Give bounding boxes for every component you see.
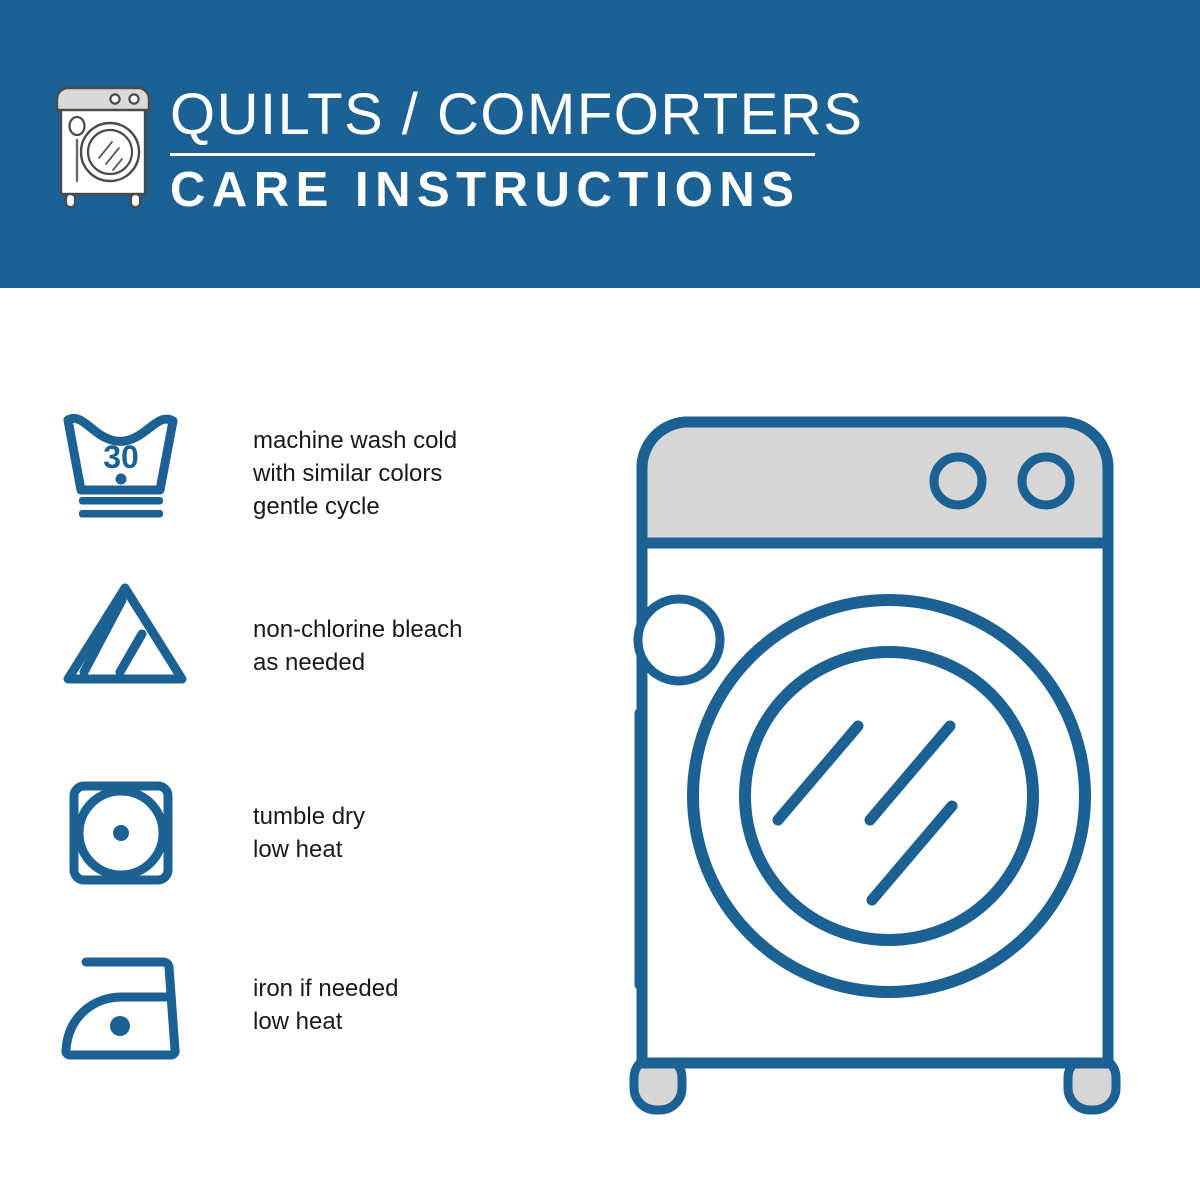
- washing-machine-icon: [52, 78, 160, 210]
- care-item-machine-wash-text: machine wash cold with similar colors ge…: [253, 424, 457, 523]
- care-item-bleach: non-chlorine bleach as needed: [0, 578, 560, 708]
- care-item-bleach-text: non-chlorine bleach as needed: [253, 613, 462, 679]
- page-subtitle: CARE INSTRUCTIONS: [170, 162, 820, 218]
- care-item-tumble-dry: tumble dry low heat: [0, 778, 560, 908]
- tumble-dry-icon: [60, 778, 190, 888]
- care-text-line: low heat: [253, 833, 365, 866]
- care-text-line: low heat: [253, 1005, 398, 1038]
- care-instruction-list: 30 machine wash cold with similar colors…: [0, 288, 560, 1200]
- care-instructions-page: QUILTS / COMFORTERS CARE INSTRUCTIONS 30: [0, 0, 1200, 1200]
- header-band: QUILTS / COMFORTERS CARE INSTRUCTIONS: [0, 0, 1200, 288]
- washer-knob: [934, 457, 982, 505]
- washer-knob: [1022, 457, 1070, 505]
- tumble-dry-dot-icon: [113, 825, 129, 841]
- page-title: QUILTS / COMFORTERS: [170, 84, 820, 146]
- gentle-cycle-bar: [79, 497, 163, 505]
- care-text-line: tumble dry: [253, 800, 365, 833]
- care-text-line: gentle cycle: [253, 490, 457, 523]
- care-text-line: non-chlorine bleach: [253, 613, 462, 646]
- care-text-line: as needed: [253, 646, 462, 679]
- gentle-cycle-bar: [79, 510, 163, 518]
- iron-dot-icon: [110, 1016, 130, 1036]
- care-item-tumble-dry-text: tumble dry low heat: [253, 800, 365, 866]
- header-title-group: QUILTS / COMFORTERS CARE INSTRUCTIONS: [170, 84, 820, 218]
- care-item-machine-wash: 30 machine wash cold with similar colors…: [0, 410, 560, 560]
- bleach-triangle-icon: [60, 578, 190, 688]
- title-divider: [170, 153, 815, 156]
- washing-machine-illustration: [596, 408, 1156, 1123]
- wash-dot-icon: [116, 474, 127, 485]
- wash-tub-icon: 30: [60, 410, 190, 520]
- washer-dial: [638, 599, 720, 681]
- care-item-iron: iron if needed low heat: [0, 952, 560, 1072]
- care-item-iron-text: iron if needed low heat: [253, 972, 398, 1038]
- wash-temperature-label: 30: [103, 439, 139, 475]
- iron-icon: [60, 952, 200, 1062]
- care-text-line: machine wash cold: [253, 424, 457, 457]
- bleach-stripe: [120, 634, 142, 672]
- care-text-line: iron if needed: [253, 972, 398, 1005]
- care-text-line: with similar colors: [253, 457, 457, 490]
